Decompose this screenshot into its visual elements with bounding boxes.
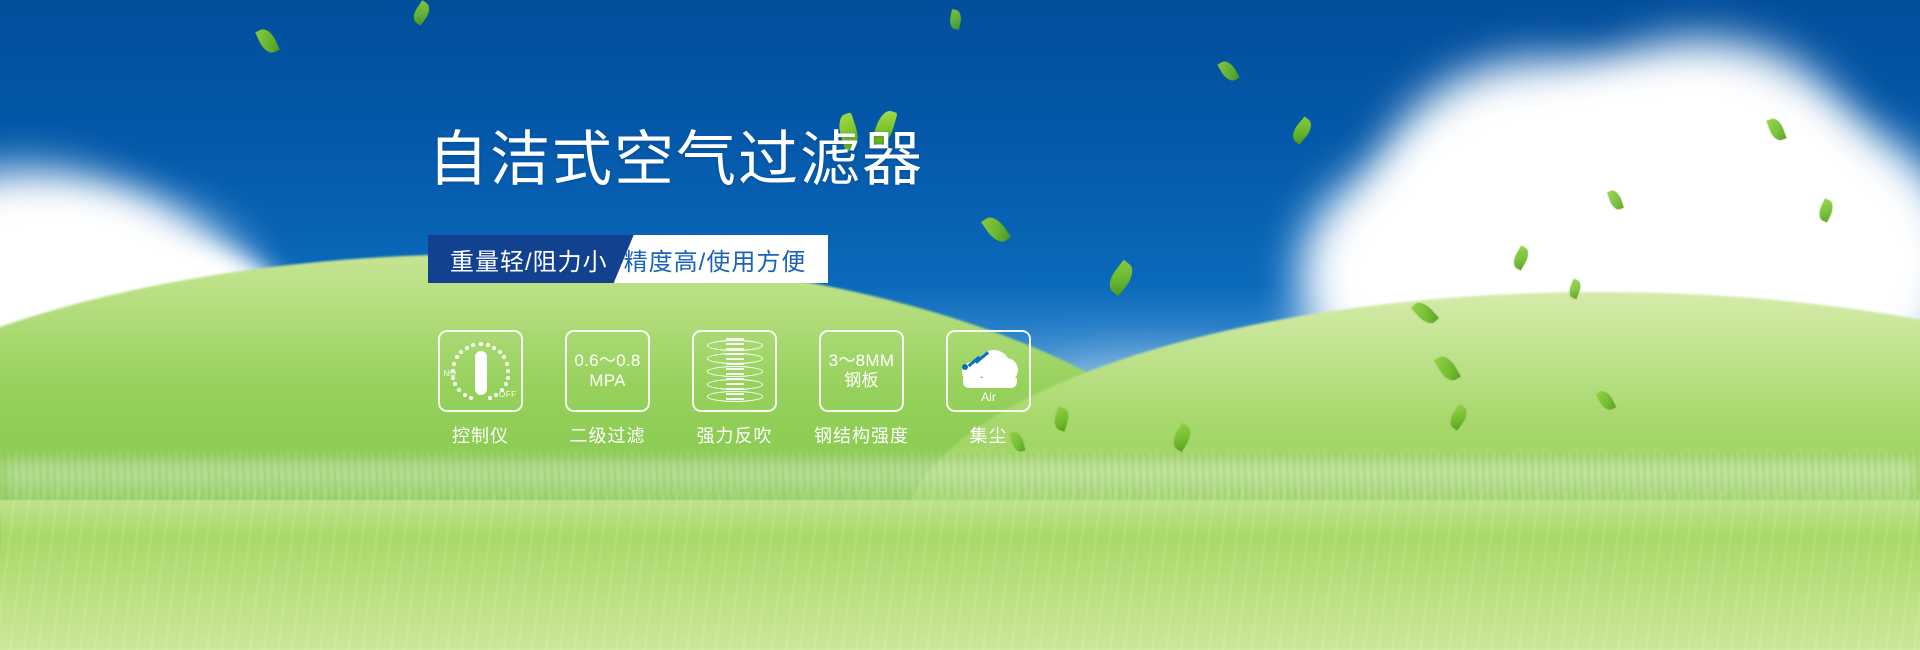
gauge-tick	[492, 346, 496, 350]
feature-icon-box	[692, 330, 777, 412]
cloud-notch	[962, 364, 968, 370]
subtitle-left: 重量轻/阻力小	[428, 235, 634, 283]
hero-banner: 自洁式空气过滤器 重量轻/阻力小 精度高/使用方便 NO OFF 控制仪	[0, 0, 1920, 650]
pressure-unit: MPA	[574, 371, 640, 391]
coil-icon	[707, 338, 763, 404]
gauge-tick	[504, 382, 508, 386]
gauge-tick	[453, 382, 457, 386]
feature-label: 强力反吹	[697, 422, 773, 448]
coil-ring	[707, 391, 763, 402]
gauge-tick	[506, 376, 510, 380]
feature-item-steel[interactable]: 3〜8MM 钢板 钢结构强度	[819, 330, 904, 448]
pressure-icon: 0.6〜0.8 MPA	[574, 351, 640, 391]
feature-label: 二级过滤	[570, 422, 646, 448]
feature-item-control[interactable]: NO OFF 控制仪	[438, 330, 523, 448]
gauge-tick	[465, 346, 469, 350]
air-cloud-icon: Air	[954, 340, 1024, 402]
gauge-tick	[452, 362, 456, 366]
steel-icon: 3〜8MM 钢板	[829, 351, 895, 391]
feature-item-dust[interactable]: Air 集尘	[946, 330, 1031, 448]
gauge-tick	[463, 393, 467, 397]
gauge-tick	[479, 342, 483, 346]
feature-item-pressure[interactable]: 0.6〜0.8 MPA 二级过滤	[565, 330, 650, 448]
feature-label: 钢结构强度	[814, 422, 909, 448]
coil-ring	[707, 366, 763, 377]
coil-ring	[707, 353, 763, 364]
gauge-tick	[451, 376, 455, 380]
gauge-tick	[505, 362, 509, 366]
feature-icon-box: 3〜8MM 钢板	[819, 330, 904, 412]
feature-icon-box: NO OFF	[438, 330, 523, 412]
pressure-value: 0.6〜0.8	[574, 351, 640, 371]
feature-item-blowback[interactable]: 强力反吹	[692, 330, 777, 448]
gauge-tick	[451, 369, 455, 373]
subtitle-bar: 重量轻/阻力小 精度高/使用方便	[428, 235, 828, 283]
gauge-tick	[506, 369, 510, 373]
gauge-tick	[471, 343, 475, 347]
feature-icon-box: Air	[946, 330, 1031, 412]
gauge-tick	[498, 350, 502, 354]
steel-material: 钢板	[829, 371, 895, 391]
gauge-needle	[475, 351, 487, 395]
gauge-tick	[502, 355, 506, 359]
gauge-tick	[457, 388, 461, 392]
gauge-tick	[459, 350, 463, 354]
banner-content: 自洁式空气过滤器 重量轻/阻力小 精度高/使用方便 NO OFF 控制仪	[0, 0, 1920, 650]
feature-list: NO OFF 控制仪 0.6〜0.8 MPA 二级过滤	[438, 330, 1031, 448]
gauge-tick	[455, 355, 459, 359]
gauge-tick	[486, 343, 490, 347]
feature-icon-box: 0.6〜0.8 MPA	[565, 330, 650, 412]
steel-thickness: 3〜8MM	[829, 351, 895, 371]
air-label: Air	[954, 390, 1024, 404]
coil-ring	[707, 340, 763, 351]
feature-label: 控制仪	[452, 422, 509, 448]
gauge-tick	[488, 396, 492, 400]
gauge-tick	[494, 393, 498, 397]
page-title: 自洁式空气过滤器	[428, 130, 924, 190]
feature-label: 集尘	[970, 422, 1008, 448]
gauge-tick	[469, 396, 473, 400]
coil-ring	[707, 379, 763, 390]
subtitle-right: 精度高/使用方便	[614, 235, 829, 283]
gauge-icon: NO OFF	[445, 338, 517, 404]
cloud-base	[963, 378, 1017, 388]
